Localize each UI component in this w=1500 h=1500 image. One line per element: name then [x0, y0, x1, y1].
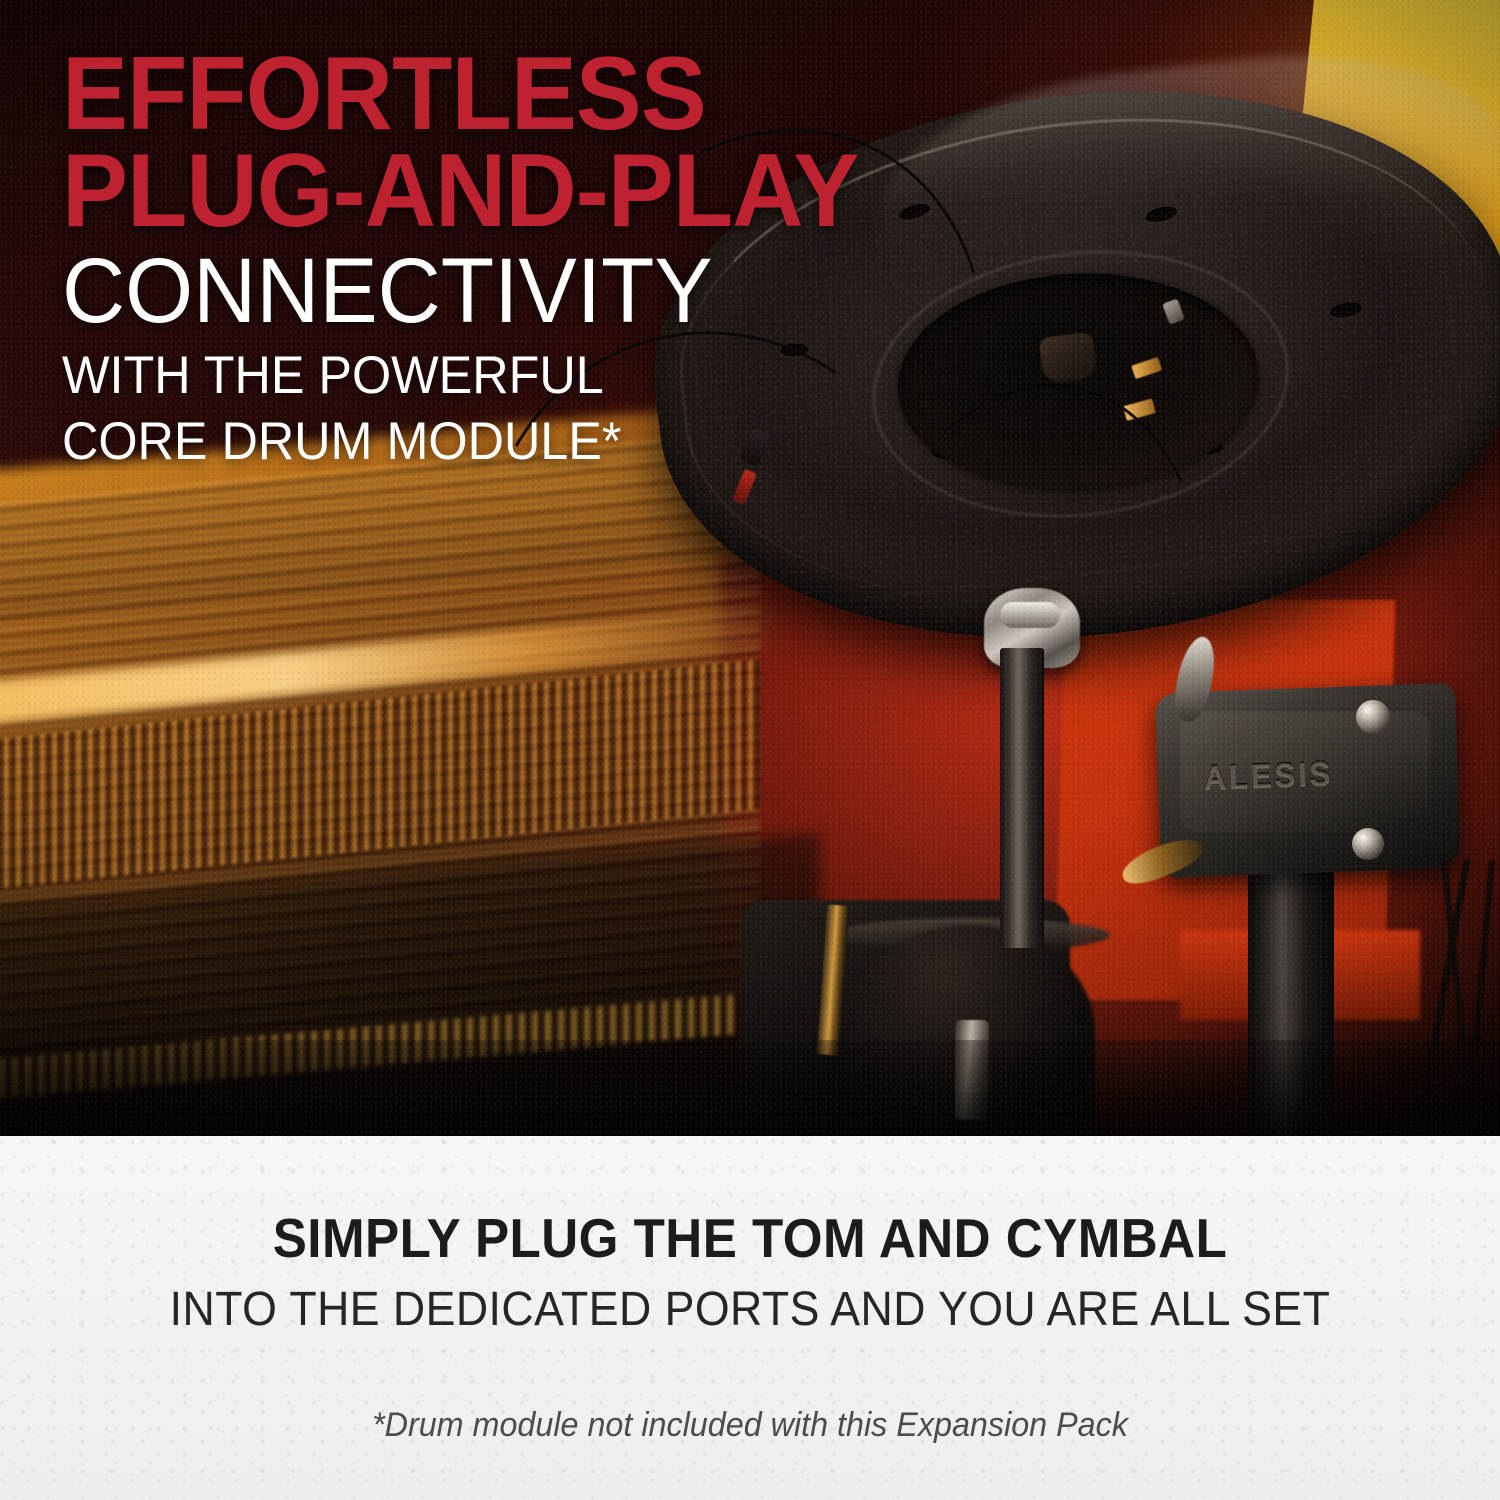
cymbal-stand-post: [1000, 648, 1044, 948]
caption-headline: SIMPLY PLUG THE TOM AND CYMBAL: [53, 1206, 1448, 1270]
clamp-bolt: [1356, 700, 1390, 734]
clamp-bolt: [1352, 828, 1384, 860]
headline-line-1: EFFORTLESS: [62, 46, 1012, 143]
cymbal-tilter-screw: [1000, 602, 1060, 628]
alesis-brand-logo: ALESIS: [1203, 755, 1334, 798]
caption-band: SIMPLY PLUG THE TOM AND CYMBAL INTO THE …: [0, 1136, 1500, 1500]
caption-subline: INTO THE DEDICATED PORTS AND YOU ARE ALL…: [53, 1282, 1448, 1337]
headline-line-5: CORE DRUM MODULE*: [62, 413, 1012, 470]
product-photo: ALESIS EFFORTLESS PLUG-AND-PLAY CONNECTI…: [0, 0, 1500, 1136]
headline-line-2: PLUG-AND-PLAY: [62, 143, 1012, 240]
headline-line-3: CONNECTIVITY: [62, 245, 1012, 339]
photo-foreground-shadow: [0, 1040, 1500, 1136]
headline-block: EFFORTLESS PLUG-AND-PLAY CONNECTIVITY WI…: [62, 46, 1062, 470]
headline-line-4: WITH THE POWERFUL: [62, 347, 1012, 404]
caption-footnote: *Drum module not included with this Expa…: [38, 1406, 1463, 1445]
product-feature-poster: ALESIS EFFORTLESS PLUG-AND-PLAY CONNECTI…: [0, 0, 1500, 1500]
